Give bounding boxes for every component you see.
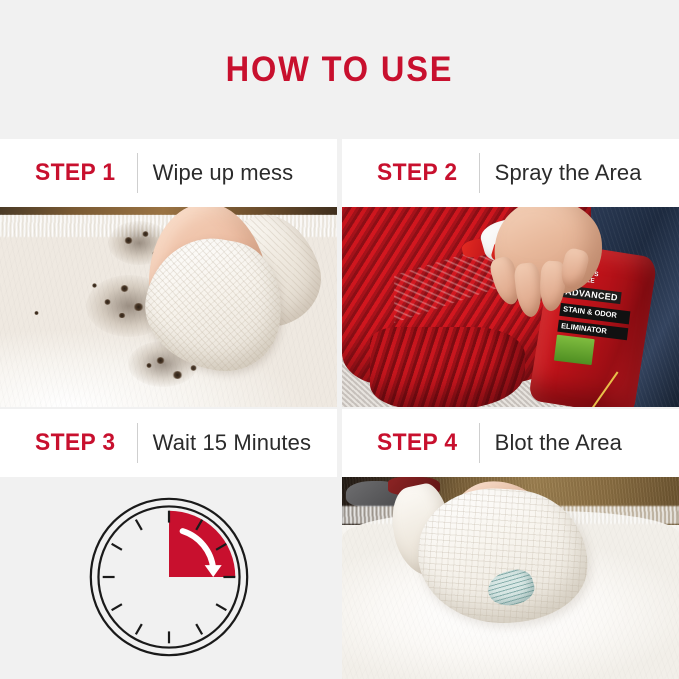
column-gap xyxy=(337,139,342,679)
dirt-speck xyxy=(172,371,183,379)
step-2-header: STEP 2 Spray the Area xyxy=(342,139,679,207)
step-2-label: STEP 2 xyxy=(377,159,457,187)
dirt-speck xyxy=(124,237,133,244)
step-2-photo: NATURE'S MIRACLE ADVANCED STAIN & ODOR E… xyxy=(342,207,679,407)
step-1-photo xyxy=(0,207,337,407)
step-3-divider xyxy=(137,423,138,463)
dirt-speck xyxy=(133,303,144,311)
dirt-speck xyxy=(92,283,97,288)
dirt-speck xyxy=(156,357,165,364)
step-3-title: Wait 15 Minutes xyxy=(153,430,311,456)
clock-illustration xyxy=(0,477,337,679)
step-4-title: Blot the Area xyxy=(495,430,622,456)
row-gap xyxy=(0,407,679,409)
step-4-photo xyxy=(342,477,679,679)
dirt-speck xyxy=(34,311,39,315)
steps-grid: STEP 1 Wipe up mess xyxy=(0,139,679,679)
step-3-header: STEP 3 Wait 15 Minutes xyxy=(0,409,337,477)
step-2-divider xyxy=(479,153,480,193)
title-band: HOW TO USE xyxy=(0,0,679,139)
step-1-header: STEP 1 Wipe up mess xyxy=(0,139,337,207)
red-knit-blanket-skirt xyxy=(370,327,525,407)
clock-icon xyxy=(84,492,254,662)
step-card-3: STEP 3 Wait 15 Minutes xyxy=(0,409,337,679)
dirt-speck xyxy=(142,231,149,237)
step-card-2: STEP 2 Spray the Area NATURE'S MIRACLE xyxy=(342,139,679,407)
step-1-label: STEP 1 xyxy=(35,159,115,187)
step-1-title: Wipe up mess xyxy=(153,160,294,186)
step-4-label: STEP 4 xyxy=(377,429,457,457)
dirt-speck xyxy=(104,299,111,305)
dirt-speck xyxy=(190,365,197,371)
label-green-panel xyxy=(554,335,595,365)
label-stripe xyxy=(571,371,619,407)
step-3-photo xyxy=(0,477,337,679)
step-2-title: Spray the Area xyxy=(495,160,642,186)
step-3-label: STEP 3 xyxy=(35,429,115,457)
step-card-1: STEP 1 Wipe up mess xyxy=(0,139,337,407)
step-1-divider xyxy=(137,153,138,193)
step-4-divider xyxy=(479,423,480,463)
dirt-speck xyxy=(120,285,129,292)
dirt-speck xyxy=(118,313,126,318)
step-4-header: STEP 4 Blot the Area xyxy=(342,409,679,477)
dirt-speck xyxy=(146,363,152,368)
how-to-use-infographic: HOW TO USE STEP 1 Wipe up mess xyxy=(0,0,679,679)
page-title: HOW TO USE xyxy=(226,50,454,90)
step-card-4: STEP 4 Blot the Area xyxy=(342,409,679,679)
